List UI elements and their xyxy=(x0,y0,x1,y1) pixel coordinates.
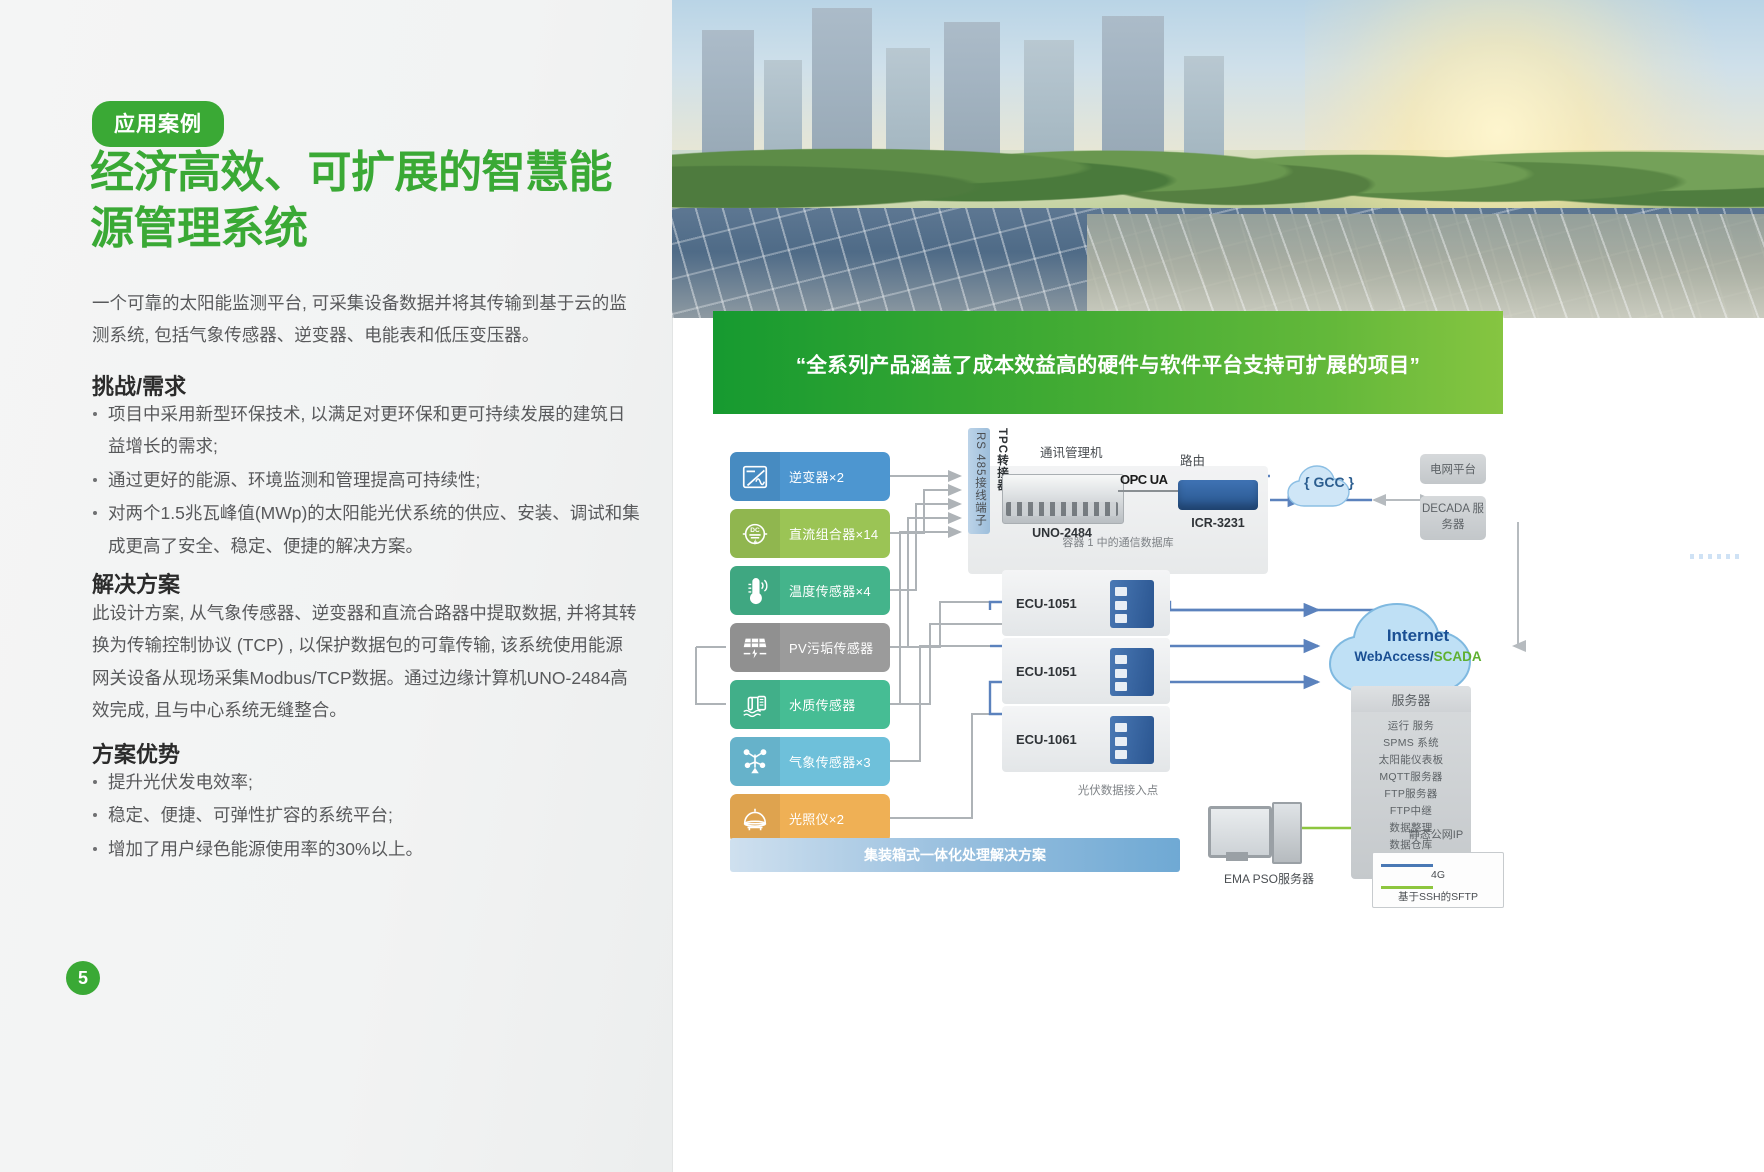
static-ip-label: 静态公网IP xyxy=(1376,826,1496,842)
list-item: 太阳能仪表板 xyxy=(1351,752,1471,769)
temperature-sensor-icon xyxy=(730,566,780,615)
weather-sensor-icon xyxy=(730,737,780,786)
dc-combiner-icon: DC xyxy=(730,509,780,558)
page-number-badge: 5 xyxy=(66,961,100,995)
quote-banner: “全系列产品涵盖了成本效益高的硬件与软件平台支持可扩展的项目” xyxy=(713,311,1503,414)
monitor-stand xyxy=(1226,852,1248,861)
system-architecture-diagram: 逆变器×2 DC 直流组合器×14 xyxy=(672,414,1764,974)
switch-port xyxy=(1115,655,1127,664)
device-label: 水质传感器 xyxy=(780,695,890,714)
legend-swatch-4g xyxy=(1381,864,1433,867)
switch-port xyxy=(1115,601,1127,610)
list-item: 提升光伏发电效率; xyxy=(92,766,640,798)
inverter-icon xyxy=(730,452,780,501)
server-service-list: 运行 服务 SPMS 系统 太阳能仪表板 MQTT服务器 FTP服务器 FTP中… xyxy=(1351,712,1471,871)
photo-solar-panels-far xyxy=(1087,214,1764,318)
uno-2484-device xyxy=(1002,474,1124,524)
router-leds xyxy=(1690,554,1744,559)
field-device-column: 逆变器×2 DC 直流组合器×14 xyxy=(730,452,890,851)
water-quality-sensor-icon xyxy=(730,680,780,729)
rs485-terminal-label: RS 485接线端子 xyxy=(972,432,988,526)
device-label: 直流组合器×14 xyxy=(780,524,890,543)
icr-3231-name: ICR-3231 xyxy=(1166,516,1270,530)
category-badge: 应用案例 xyxy=(92,101,224,147)
opcua-underline xyxy=(1118,490,1178,492)
opc-ua-badge: OPC UA xyxy=(1120,472,1168,487)
webaccess-scada-label: WebAccess/SCADA xyxy=(1324,649,1512,664)
diagram-legend: 4G 基于SSH的SFTP xyxy=(1372,852,1504,908)
device-label: PV污垢传感器 xyxy=(780,638,890,657)
switch-port xyxy=(1115,737,1127,746)
ecu-name: ECU-1051 xyxy=(1016,596,1077,611)
device-temperature-sensor[interactable]: 温度传感器×4 xyxy=(730,566,890,615)
uno-2484-ports xyxy=(1006,502,1118,516)
container-solution-banner: 集装箱式一体化处理解决方案 xyxy=(730,838,1180,872)
page-title: 经济高效、可扩展的智慧能源管理系统 xyxy=(90,145,650,258)
server-panel-title: 服务器 xyxy=(1351,686,1471,712)
list-item: MQTT服务器 xyxy=(1351,769,1471,786)
benefits-list: 提升光伏发电效率; 稳定、便捷、可弹性扩容的系统平台; 增加了用户绿色能源使用率… xyxy=(92,766,640,865)
section-title-benefits: 方案优势 xyxy=(92,737,180,769)
switch-port xyxy=(1115,587,1127,596)
ema-server-label: EMA PSO服务器 xyxy=(1184,870,1354,887)
workstation-monitor xyxy=(1208,806,1272,858)
device-label: 温度传感器×4 xyxy=(780,581,890,600)
ecu-name: ECU-1061 xyxy=(1016,732,1077,747)
challenges-list: 项目中采用新型环保技术, 以满足对更环保和更可持续发展的建筑日益增长的需求; 通… xyxy=(92,398,640,562)
ethernet-switch xyxy=(1110,580,1154,628)
case-study-page: 应用案例 经济高效、可扩展的智慧能源管理系统 一个可靠的太阳能监测平台, 可采集… xyxy=(0,0,1764,1172)
device-label: 逆变器×2 xyxy=(780,467,890,486)
device-label: 气象传感器×3 xyxy=(780,752,890,771)
device-inverter[interactable]: 逆变器×2 xyxy=(730,452,890,501)
section-body-solution: 此设计方案, 从气象传感器、逆变器和直流合路器中提取数据, 并将其转换为传输控制… xyxy=(92,597,640,727)
device-label: 光照仪×2 xyxy=(780,809,890,828)
list-item: 运行 服务 xyxy=(1351,718,1471,735)
hero-photo xyxy=(672,0,1764,318)
section-title-challenges: 挑战/需求 xyxy=(92,369,186,401)
switch-port xyxy=(1115,682,1127,691)
section-body-benefits: 提升光伏发电效率; 稳定、便捷、可弹性扩容的系统平台; 增加了用户绿色能源使用率… xyxy=(92,766,640,866)
workstation-tower xyxy=(1272,802,1302,864)
gcc-label: { GCC } xyxy=(1286,474,1372,490)
grid-platform-box: 电网平台 xyxy=(1420,454,1486,484)
svg-text:DC: DC xyxy=(750,527,760,534)
device-dc-combiner[interactable]: DC 直流组合器×14 xyxy=(730,509,890,558)
ecu-name: ECU-1051 xyxy=(1016,664,1077,679)
switch-port xyxy=(1115,723,1127,732)
device-water-quality-sensor[interactable]: 水质传感器 xyxy=(730,680,890,729)
decada-server-box: DECADA 服务器 xyxy=(1420,496,1486,540)
switch-port xyxy=(1115,669,1127,678)
list-item: 稳定、便捷、可弹性扩容的系统平台; xyxy=(92,799,640,831)
switch-port xyxy=(1115,614,1127,623)
list-item: FTP服务器 xyxy=(1351,786,1471,803)
device-pv-soiling-sensor[interactable]: PV污垢传感器 xyxy=(730,623,890,672)
pyranometer-icon xyxy=(730,794,780,843)
list-item: 对两个1.5兆瓦峰值(MWp)的太阳能光伏系统的供应、安装、调试和集成更高了安全… xyxy=(92,497,640,562)
icr-3231-router xyxy=(1178,480,1258,510)
pv-access-point-label: 光伏数据接入点 xyxy=(968,782,1268,798)
legend-label-sftp: 基于SSH的SFTP xyxy=(1373,889,1503,904)
list-item: 通过更好的能源、环境监测和管理提高可持续性; xyxy=(92,464,640,496)
photo-tree-line xyxy=(672,96,1764,226)
left-content-panel: 应用案例 经济高效、可扩展的智慧能源管理系统 一个可靠的太阳能监测平台, 可采集… xyxy=(0,0,673,1172)
list-item: FTP中继 xyxy=(1351,803,1471,820)
gateway-caption: 通讯管理机 xyxy=(1040,442,1103,461)
legend-label-4g: 4G xyxy=(1373,869,1503,881)
device-weather-sensor[interactable]: 气象传感器×3 xyxy=(730,737,890,786)
internet-label: Internet xyxy=(1324,626,1512,646)
list-item: 项目中采用新型环保技术, 以满足对更环保和更可持续发展的建筑日益增长的需求; xyxy=(92,398,640,463)
ethernet-switch xyxy=(1110,648,1154,696)
list-item: SPMS 系统 xyxy=(1351,735,1471,752)
server-panel: 服务器 运行 服务 SPMS 系统 太阳能仪表板 MQTT服务器 FTP服务器 … xyxy=(1351,686,1471,879)
section-body-challenges: 项目中采用新型环保技术, 以满足对更环保和更可持续发展的建筑日益增长的需求; 通… xyxy=(92,398,640,563)
device-pyranometer[interactable]: 光照仪×2 xyxy=(730,794,890,843)
list-item: 增加了用户绿色能源使用率的30%以上。 xyxy=(92,833,640,865)
section-title-solution: 解决方案 xyxy=(92,567,180,599)
route-label: 路由 xyxy=(1180,450,1205,469)
ethernet-switch xyxy=(1110,716,1154,764)
pv-soiling-sensor-icon xyxy=(730,623,780,672)
intro-paragraph: 一个可靠的太阳能监测平台, 可采集设备数据并将其传输到基于云的监测系统, 包括气… xyxy=(92,287,637,352)
container-db-label: 容器 1 中的通信数据库 xyxy=(968,534,1268,550)
internet-cloud-shape xyxy=(1324,600,1512,696)
switch-port xyxy=(1115,750,1127,759)
